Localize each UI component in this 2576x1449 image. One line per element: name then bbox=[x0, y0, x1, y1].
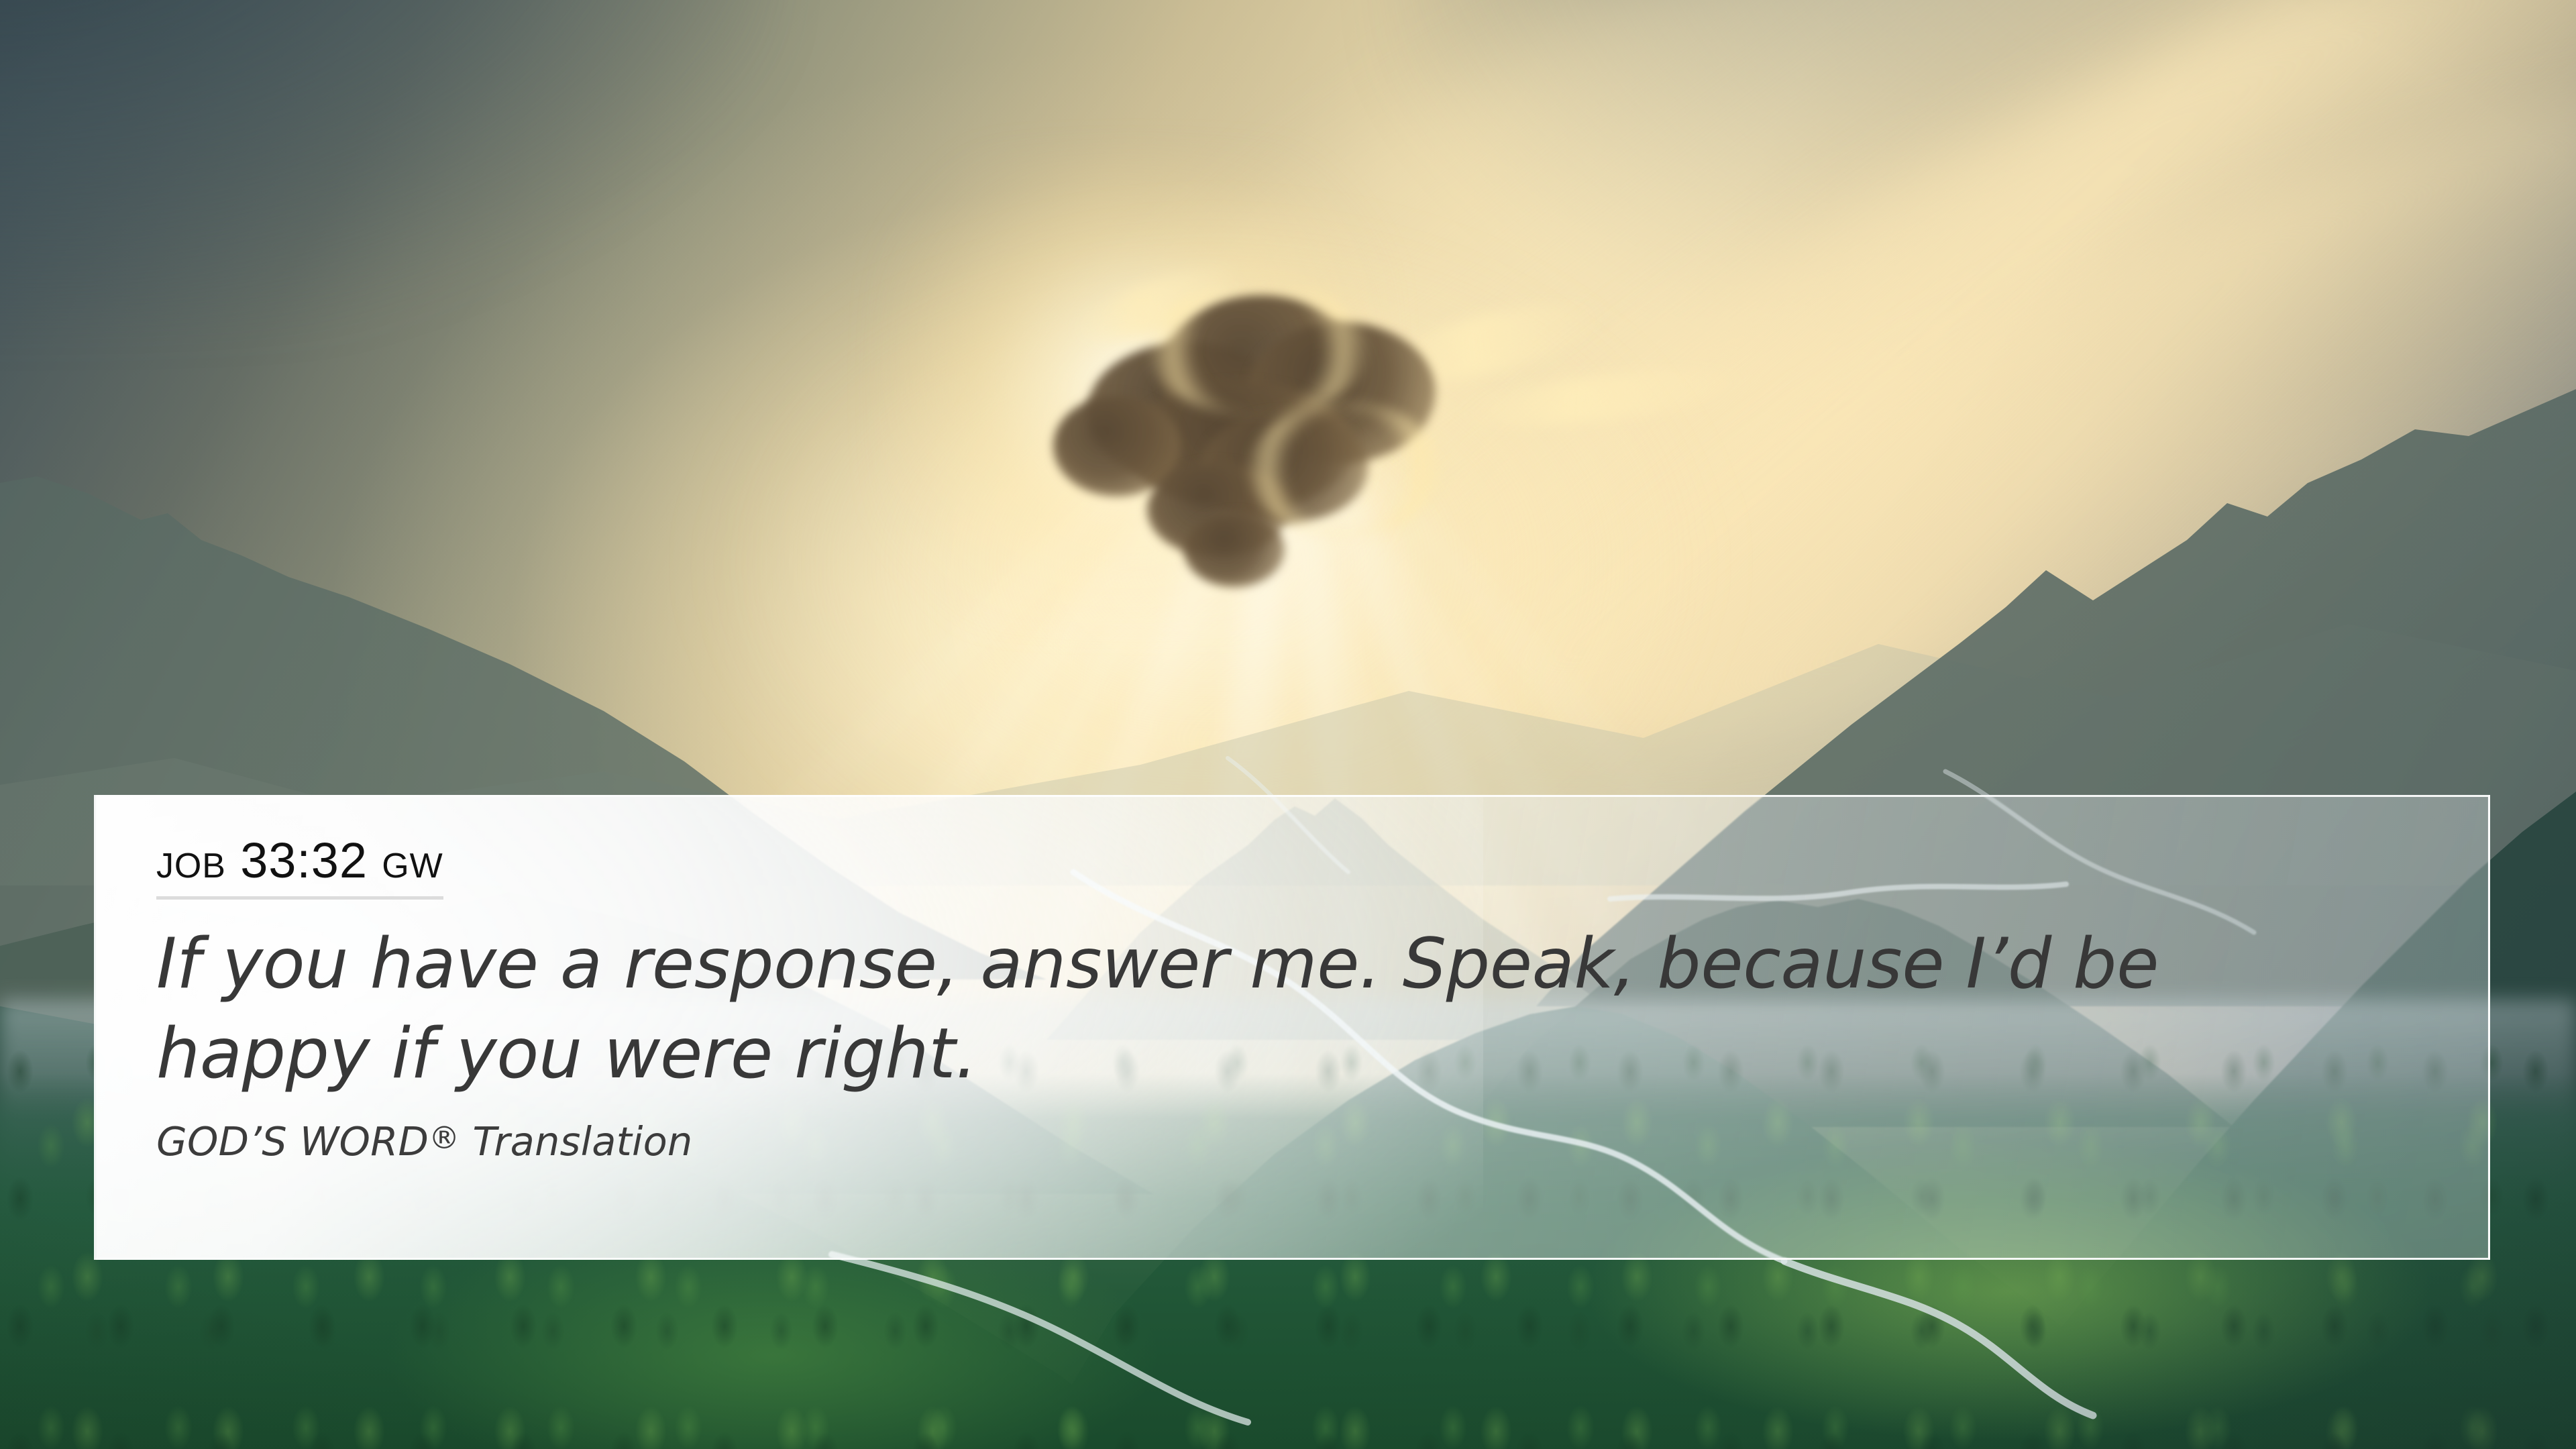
verse-panel-content: Job 33:32 GW If you have a response, ans… bbox=[96, 797, 2488, 1165]
registered-trademark-icon: ® bbox=[429, 1120, 460, 1156]
attribution-name: GOD’S WORD bbox=[156, 1118, 429, 1165]
verse-attribution: GOD’S WORD® Translation bbox=[156, 1118, 2488, 1165]
verse-text: If you have a response, answer me. Speak… bbox=[156, 920, 2377, 1099]
verse-image-canvas: Job 33:32 GW If you have a response, ans… bbox=[0, 0, 2576, 1449]
attribution-suffix: Translation bbox=[460, 1118, 692, 1165]
verse-reference: Job 33:32 GW bbox=[156, 836, 443, 900]
verse-panel: Job 33:32 GW If you have a response, ans… bbox=[94, 795, 2490, 1260]
